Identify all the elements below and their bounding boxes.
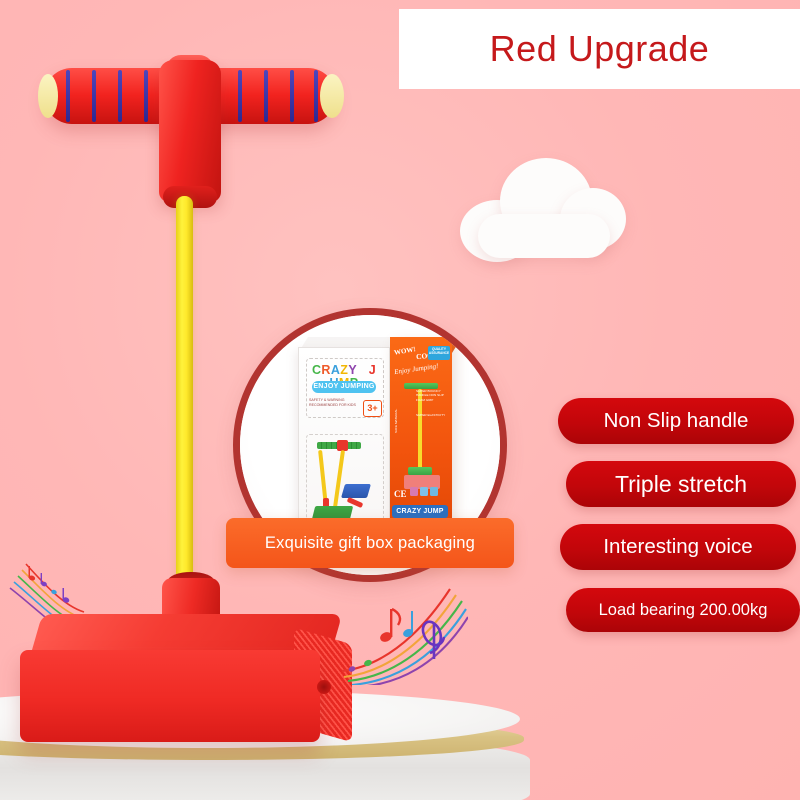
gift-box-caption-banner: Exquisite gift box packaging [226, 518, 514, 568]
feature-badge-interesting-voice[interactable]: Interesting voice [560, 524, 796, 570]
box-side-script: Enjoy Jumping! [394, 362, 439, 376]
ce-mark-icon: CE [394, 489, 407, 499]
handle-end-cap-left [38, 74, 58, 118]
box-age-badge: 3+ [363, 400, 382, 417]
product-marketing-image: CRAZY JUMP ENJOY JUMPING SAFETY & WARNIN… [0, 0, 800, 800]
box-side-face: WOW! COOL! Enjoy Jumping! QUALITY ASSURA… [390, 337, 452, 543]
box-product-illustration [307, 436, 383, 530]
feature-badge-load-bearing[interactable]: Load bearing 200.00kg [566, 588, 800, 632]
handle-end-cap-right [320, 74, 344, 118]
feature-badge-triple-stretch[interactable]: Triple stretch [566, 461, 796, 507]
feature-badge-label: Non Slip handle [604, 409, 749, 433]
box-front-face: CRAZY JUMP ENJOY JUMPING SAFETY & WARNIN… [298, 347, 390, 543]
music-notes-right-icon [338, 575, 468, 685]
feature-badge-label: Triple stretch [615, 471, 747, 498]
speaker-hole-icon [317, 680, 331, 694]
box-side-note-2: SUPER ELASTICITY [416, 413, 450, 417]
handle-connector [159, 60, 221, 202]
gift-box-caption-text: Exquisite gift box packaging [265, 534, 475, 553]
feature-badge-label: Interesting voice [603, 535, 752, 559]
elastic-pole [176, 196, 193, 596]
box-safety-text: SAFETY & WARNING RECOMMENDED FOR KIDS [309, 398, 359, 409]
box-side-note-3: SAFE MATERIAL [394, 403, 398, 433]
certification-icons [410, 487, 438, 496]
foam-base-block [18, 614, 348, 742]
box-side-note-1: SUPER BOUNCY HANDLE NON SLIP FOAM GRIP [416, 389, 450, 402]
box-quality-badge: QUALITY ASSURANCE [428, 346, 450, 360]
box-exclaim-wow: WOW! [393, 345, 416, 357]
feature-badge-non-slip-handle[interactable]: Non Slip handle [558, 398, 794, 444]
feature-badge-label: Load bearing 200.00kg [599, 601, 768, 620]
box-tagline: ENJOY JUMPING [312, 381, 376, 393]
page-title: Red Upgrade [490, 28, 710, 70]
box-bottom-brand: CRAZY JUMP [392, 505, 448, 518]
title-plate: Red Upgrade [399, 9, 800, 89]
cloud-icon [460, 152, 625, 258]
